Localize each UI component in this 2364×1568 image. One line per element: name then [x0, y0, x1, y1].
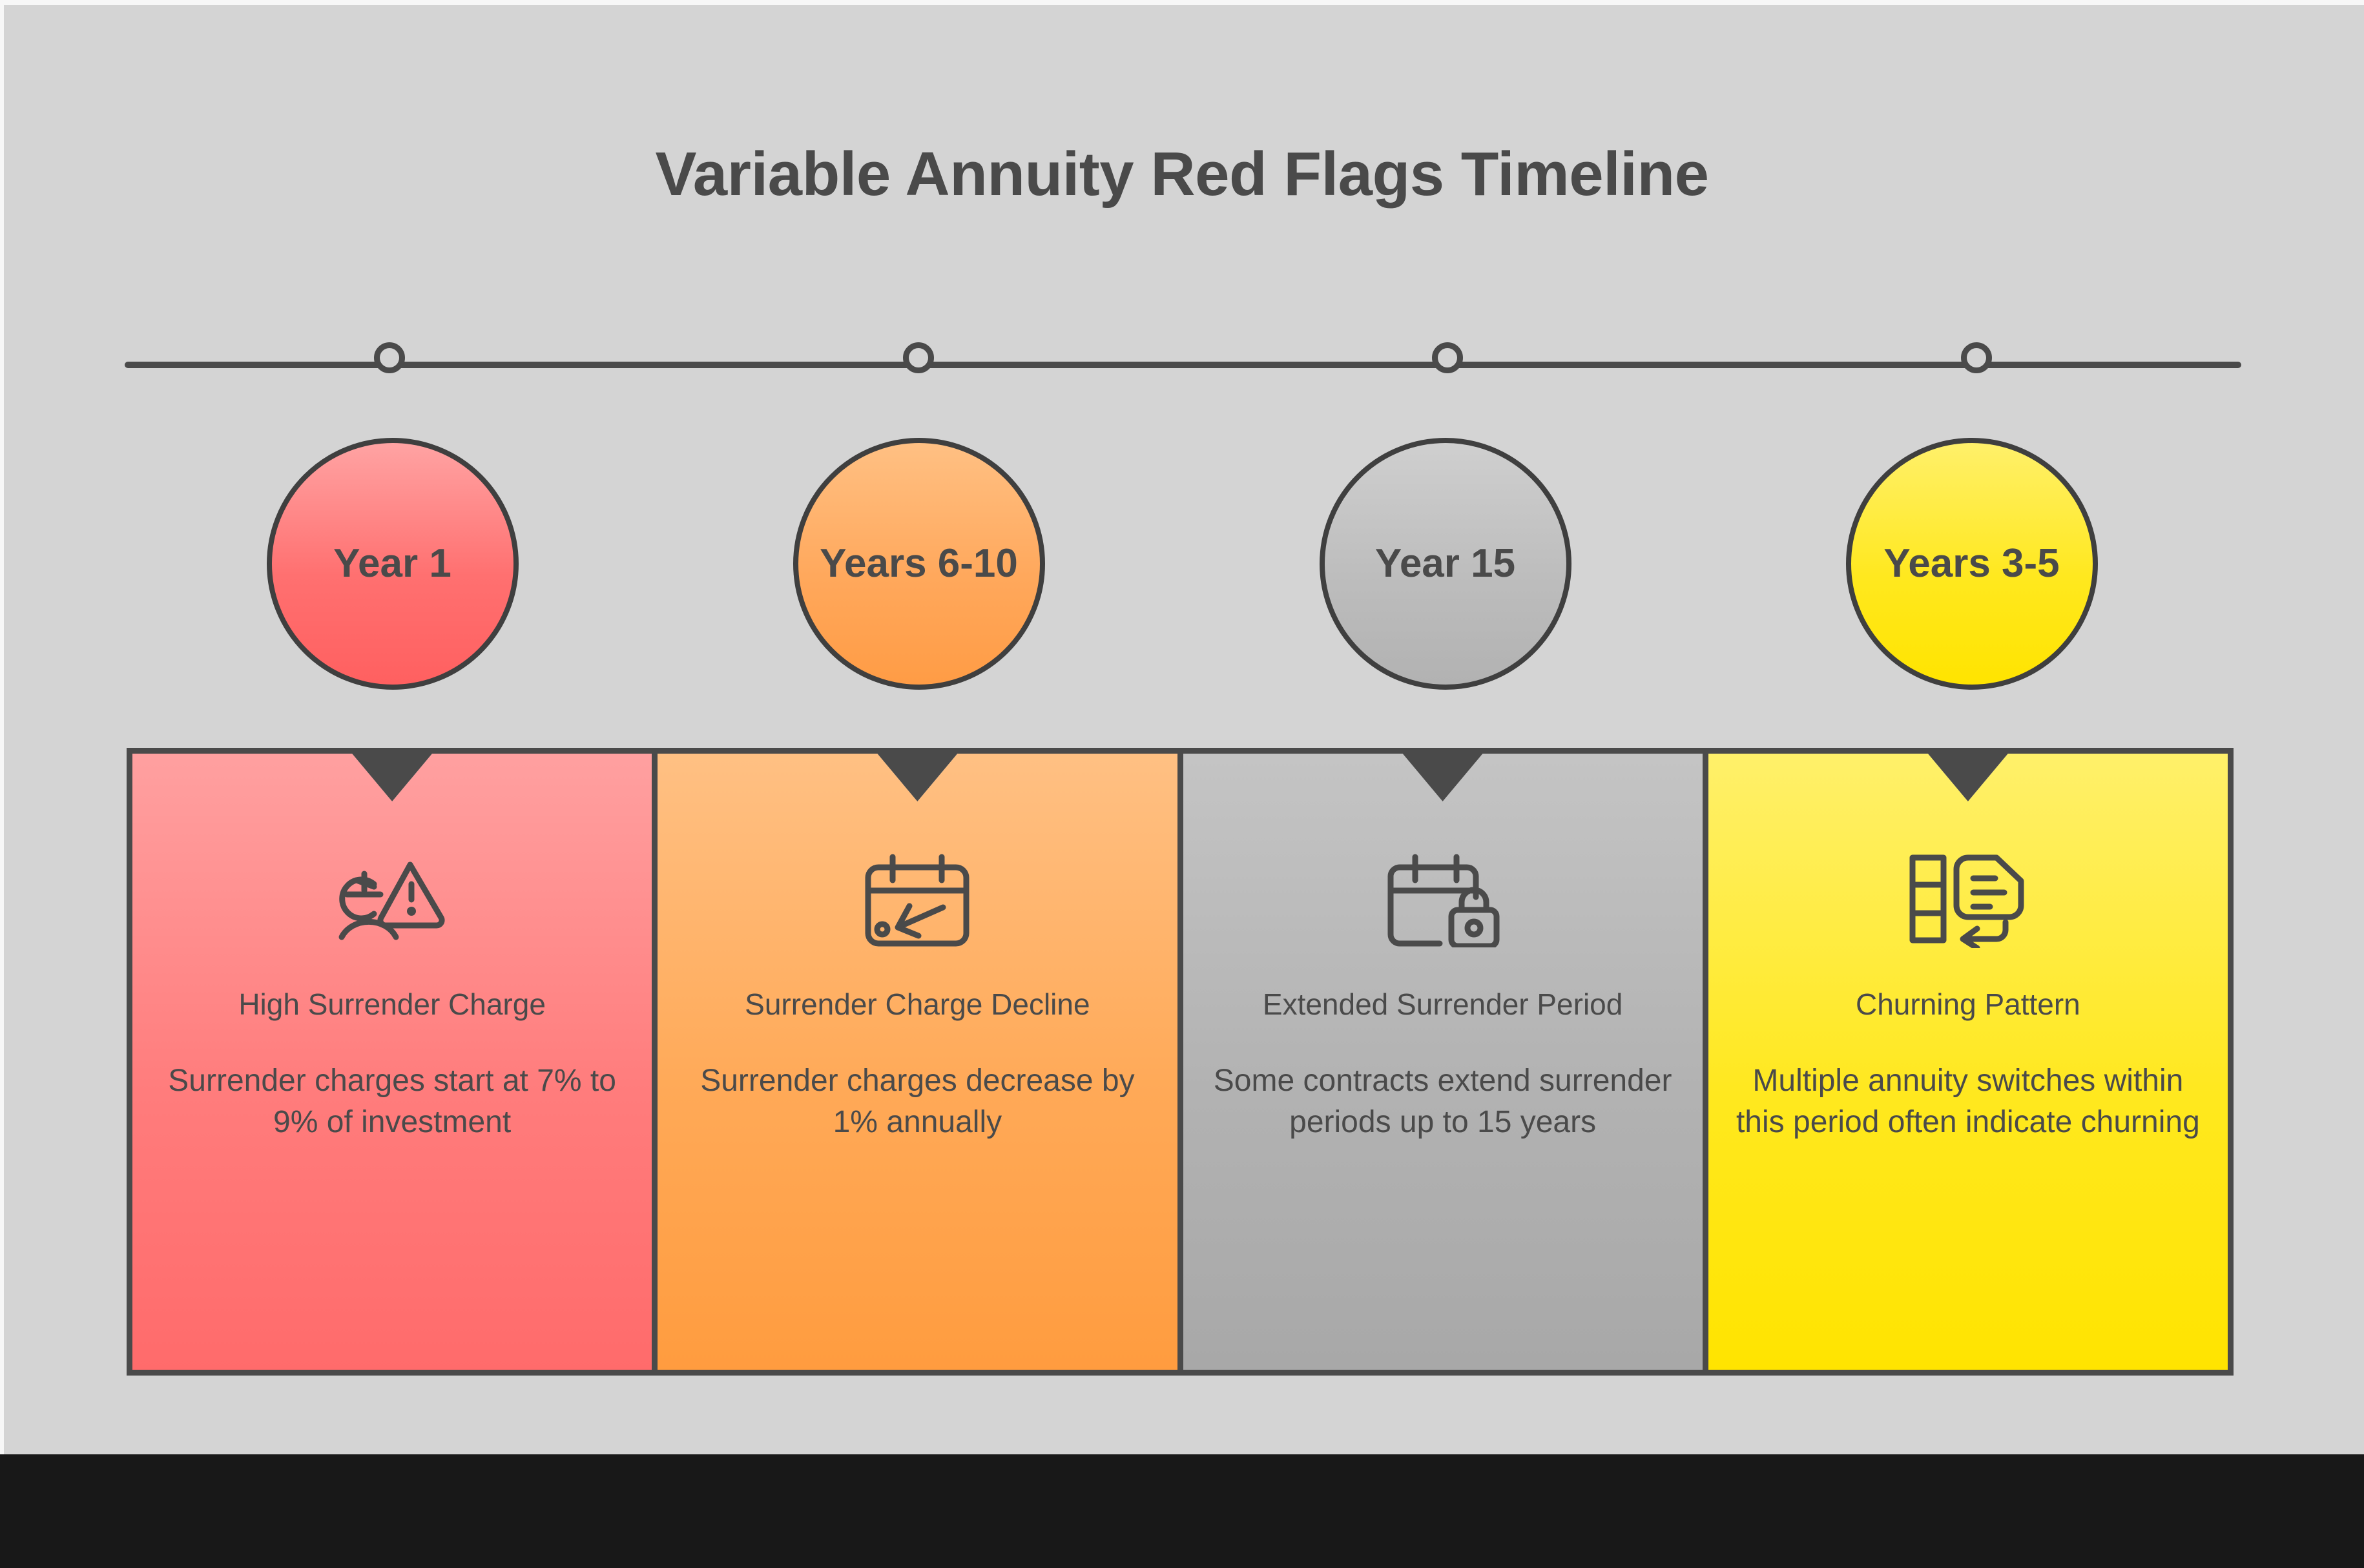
timeline-node-2[interactable] [903, 342, 934, 373]
card-heading-2: Surrender Charge Decline [745, 985, 1090, 1024]
page-title: Variable Annuity Red Flags Timeline [0, 139, 2364, 210]
milestone-badge-4[interactable]: Years 3-5 [1846, 438, 2098, 690]
milestone-badge-label-3: Year 15 [1375, 541, 1515, 587]
milestone-badge-2[interactable]: Years 6-10 [793, 438, 1045, 690]
milestone-badge-3[interactable]: Year 15 [1320, 438, 1571, 690]
card-body-1: Surrender charges start at 7% to 9% of i… [158, 1060, 626, 1143]
milestone-badges: Year 1 Years 6-10 Year 15 Years 3-5 [129, 438, 2235, 690]
card-body-2: Surrender charges decrease by 1% annuall… [683, 1060, 1151, 1143]
timeline-axis [125, 342, 2241, 387]
milestone-card-4[interactable]: Churning Pattern Multiple annuity switch… [1703, 754, 2228, 1370]
timeline-node-3[interactable] [1432, 342, 1463, 373]
card-notch-2 [871, 754, 964, 801]
card-heading-4: Churning Pattern [1856, 985, 2080, 1024]
timeline-line [125, 362, 2241, 368]
milestone-badge-label-1: Year 1 [333, 541, 451, 587]
card-notch-1 [346, 754, 439, 801]
card-body-4: Multiple annuity switches within this pe… [1734, 1060, 2202, 1143]
milestone-card-3[interactable]: Extended Surrender Period Some contracts… [1177, 754, 1703, 1370]
milestone-badge-label-4: Years 3-5 [1883, 541, 2059, 587]
footer-band [0, 1454, 2364, 1568]
card-notch-3 [1396, 754, 1489, 801]
document-switch-icon [1900, 851, 2036, 947]
card-notch-4 [1922, 754, 2015, 801]
milestone-card-1[interactable]: High Surrender Charge Surrender charges … [132, 754, 652, 1370]
card-heading-1: High Surrender Charge [238, 985, 546, 1024]
card-body-3: Some contracts extend surrender periods … [1209, 1060, 1677, 1143]
infographic-root: Variable Annuity Red Flags Timeline Year… [0, 0, 2364, 1568]
calendar-lock-icon [1375, 851, 1511, 947]
money-warning-icon [324, 851, 460, 947]
card-heading-3: Extended Surrender Period [1263, 985, 1623, 1024]
timeline-node-1[interactable] [374, 342, 405, 373]
milestone-badge-1[interactable]: Year 1 [267, 438, 519, 690]
milestone-badge-label-2: Years 6-10 [820, 541, 1018, 587]
milestone-cards: High Surrender Charge Surrender charges … [127, 748, 2234, 1376]
milestone-card-2[interactable]: Surrender Charge Decline Surrender charg… [652, 754, 1177, 1370]
calendar-decline-arrow-icon [849, 851, 985, 947]
timeline-node-4[interactable] [1961, 342, 1992, 373]
